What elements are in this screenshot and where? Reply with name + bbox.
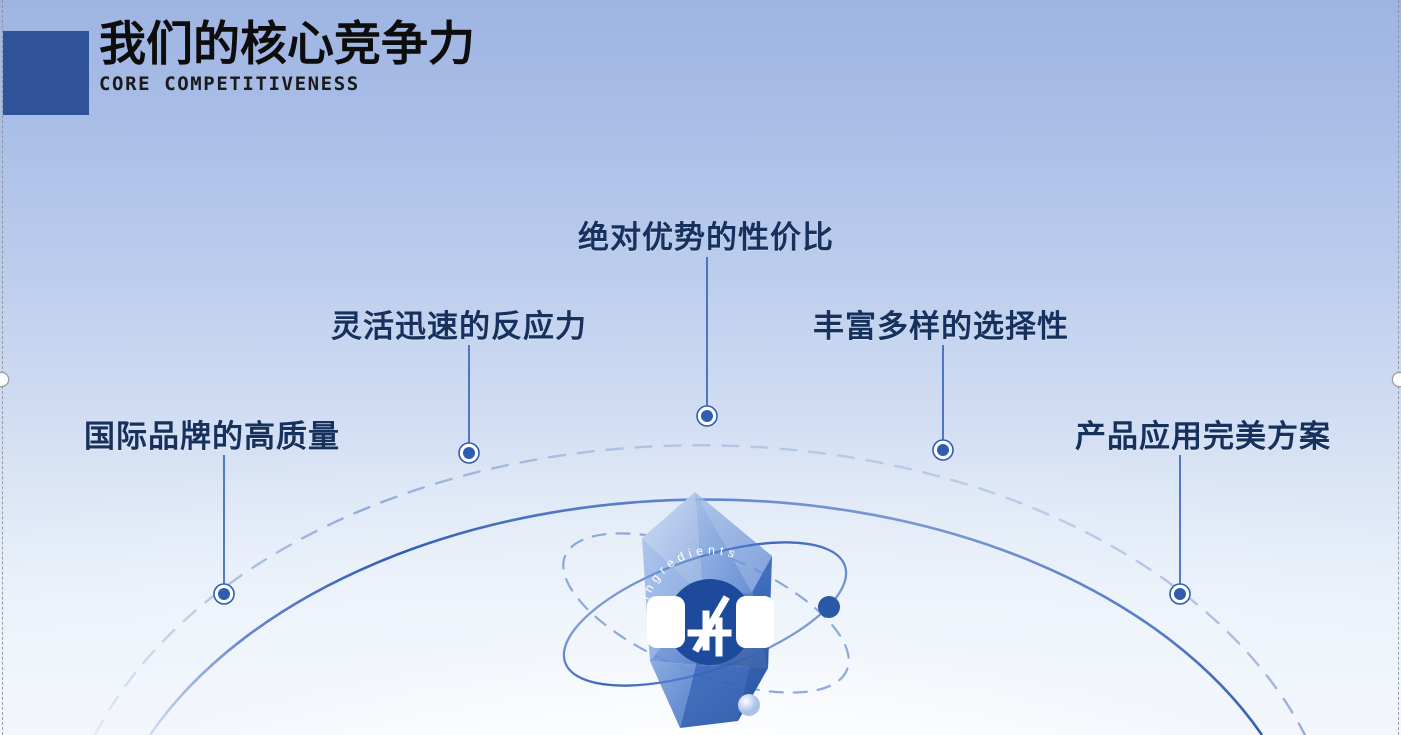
node-label-3: 绝对优势的性价比 [578,212,834,257]
orbit-bead-bottom [738,694,760,716]
node-label-2: 灵活迅速的反应力 [331,301,587,346]
node-label-5: 产品应用完美方案 [1075,411,1331,456]
node-label-4: 丰富多样的选择性 [813,301,1069,346]
node-marker-5[interactable] [1174,588,1186,600]
node-label-1: 国际品牌的高质量 [84,411,340,456]
node-marker-3[interactable] [701,410,713,422]
orbit-bead-right [818,596,840,618]
slide-handle-right[interactable] [1392,372,1401,387]
slide-canvas: 我们的核心竞争力 CORE COMPETITIVENESS 国际品牌 [0,0,1401,735]
node-marker-2[interactable] [463,447,475,459]
brand-emblem: ingredients [520,483,882,735]
node-marker-4[interactable] [937,444,949,456]
node-marker-1[interactable] [218,588,230,600]
